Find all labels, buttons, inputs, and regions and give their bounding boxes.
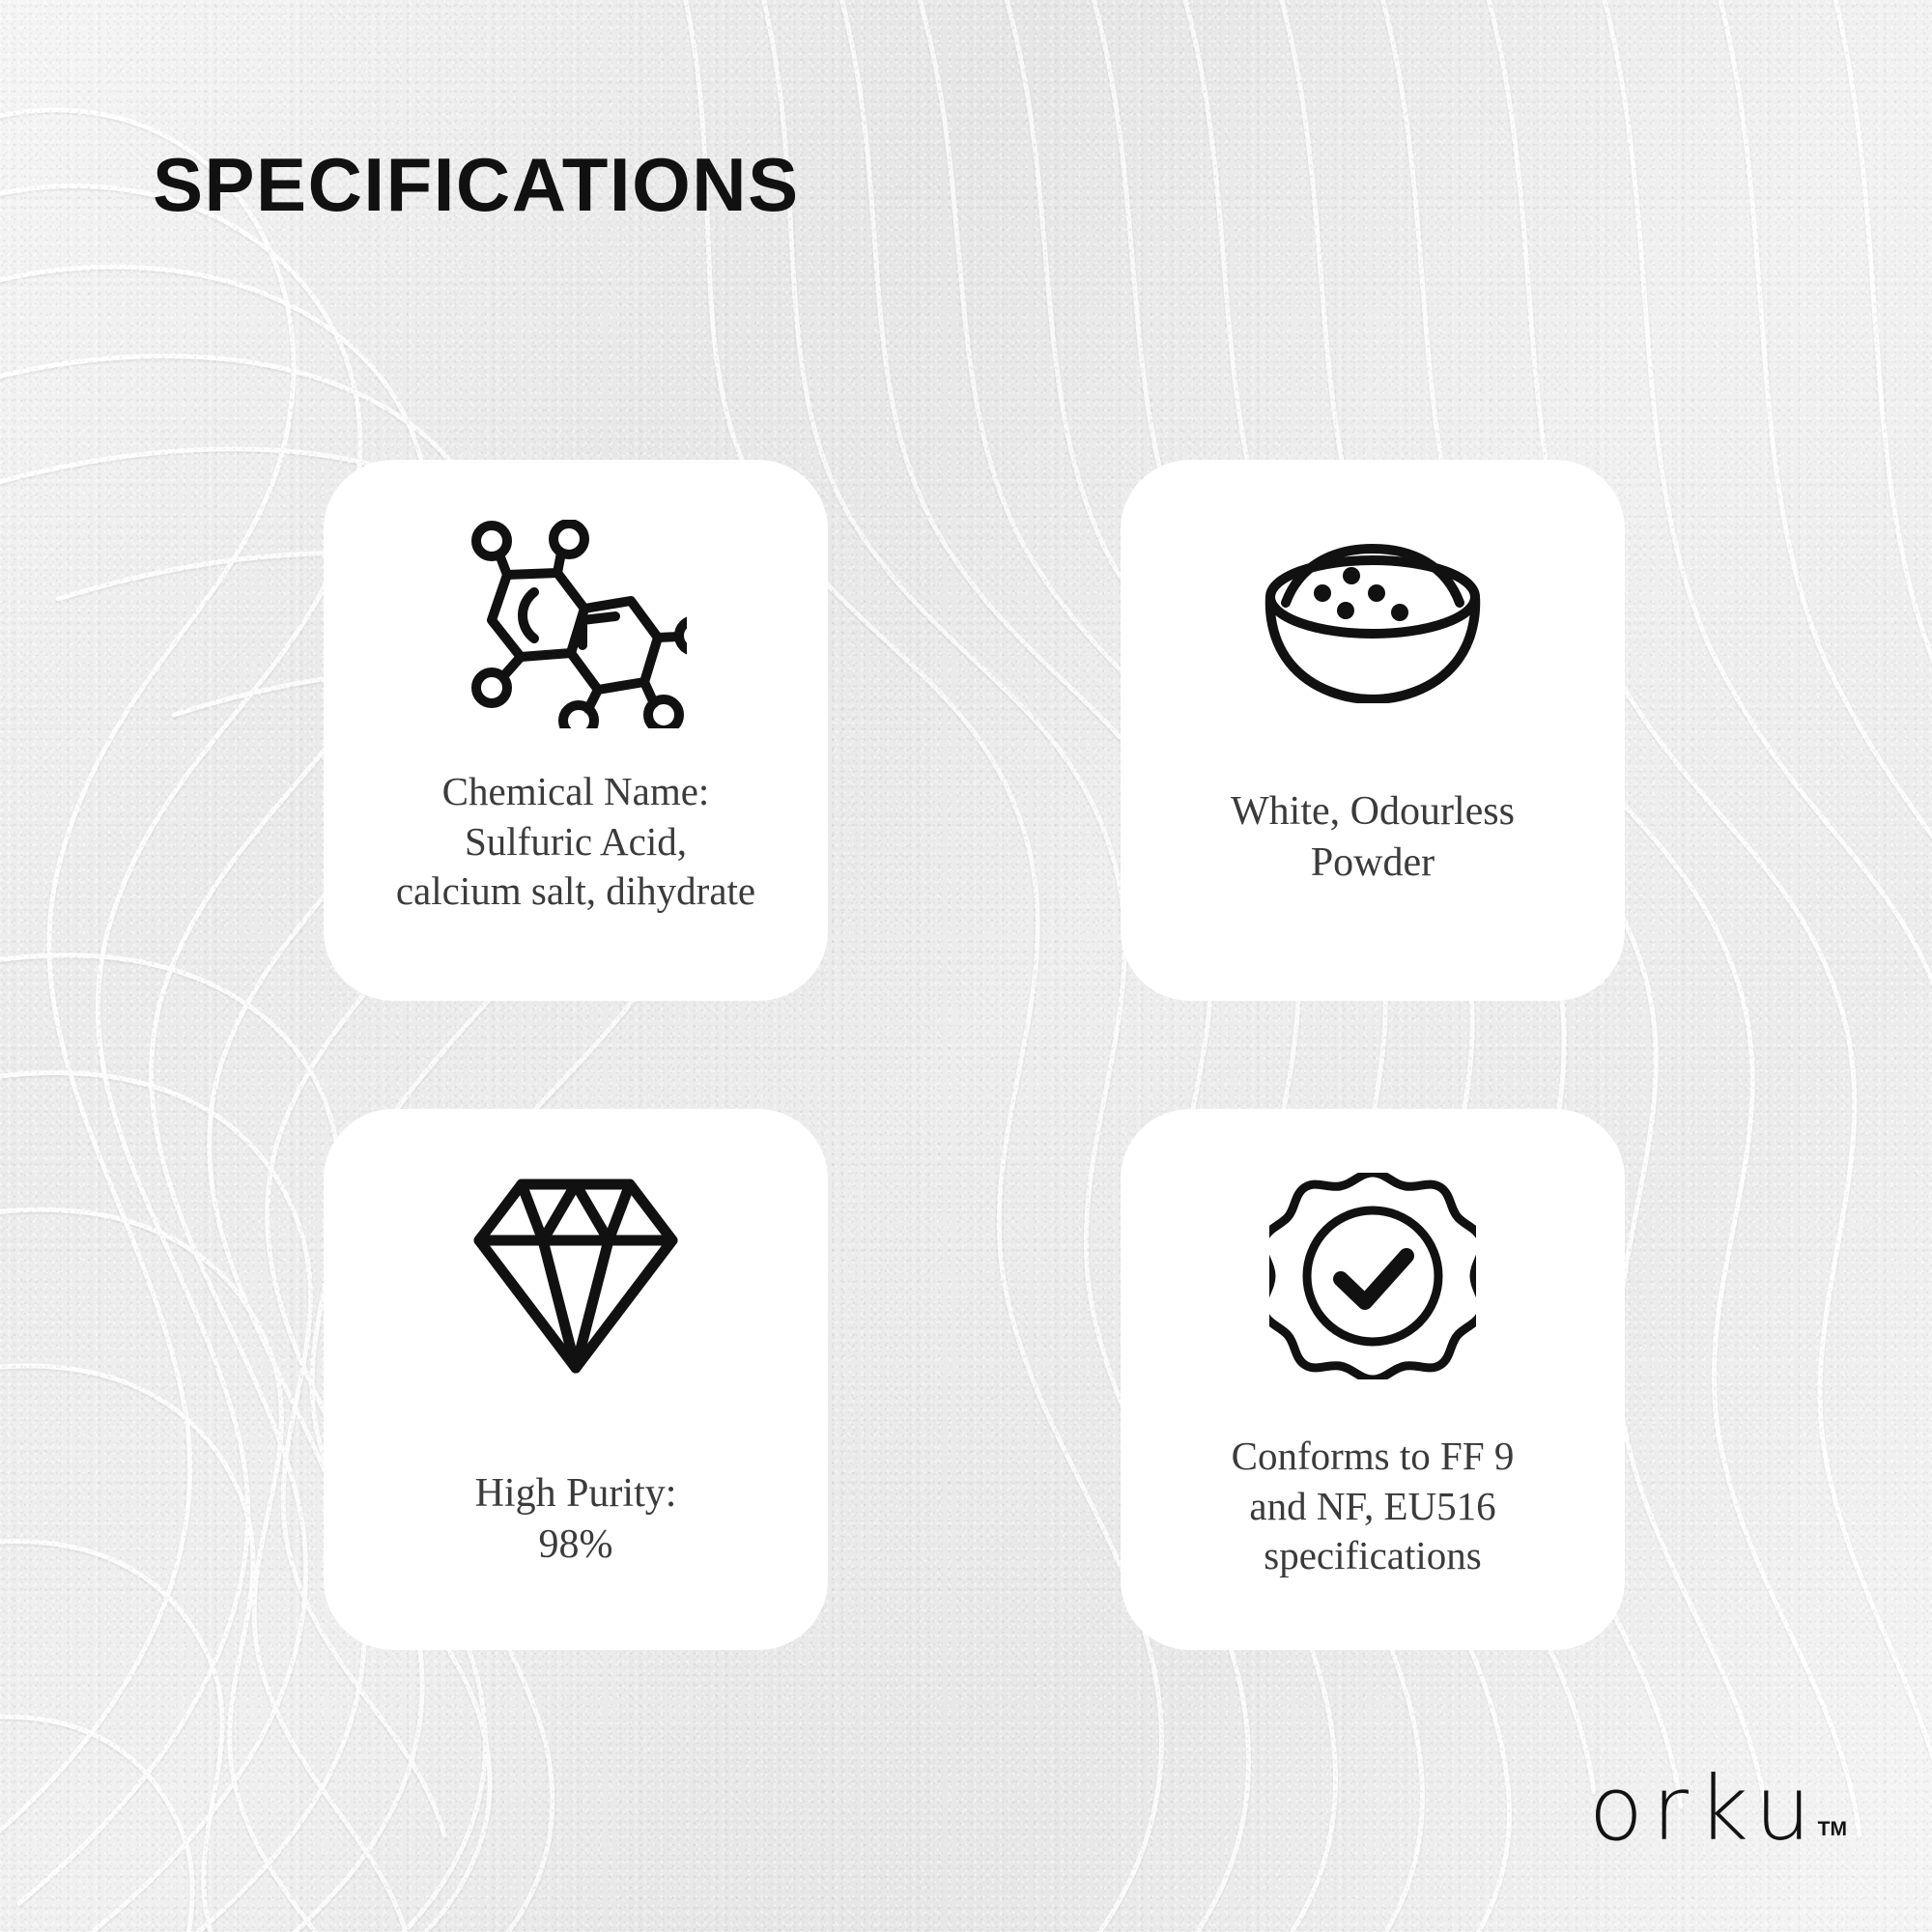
spec-caption-compliance: Conforms to FF 9 and NF, EU516 specifica…	[1121, 1432, 1625, 1581]
trademark-symbol: TM	[1818, 1818, 1847, 1841]
diamond-icon	[471, 1177, 680, 1376]
spec-card-appearance[interactable]: White, Odourless Powder	[1121, 460, 1625, 1001]
spec-card-compliance[interactable]: Conforms to FF 9 and NF, EU516 specifica…	[1121, 1109, 1625, 1650]
spec-caption-appearance: White, Odourless Powder	[1121, 786, 1625, 889]
spec-card-chemical-name[interactable]: Chemical Name: Sulfuric Acid, calcium sa…	[324, 460, 828, 1001]
brand-logo: orku TM	[1589, 1769, 1847, 1851]
spec-caption-purity: High Purity: 98%	[324, 1468, 828, 1571]
certified-badge-icon	[1269, 1173, 1476, 1379]
spec-card-purity[interactable]: High Purity: 98%	[324, 1109, 828, 1650]
spec-caption-chemical-name: Chemical Name: Sulfuric Acid, calcium sa…	[324, 767, 828, 917]
powder-bowl-icon	[1257, 533, 1489, 703]
specifications-grid: Chemical Name: Sulfuric Acid, calcium sa…	[0, 0, 1932, 1932]
brand-wordmark: orku	[1589, 1769, 1820, 1851]
molecule-icon	[465, 520, 687, 728]
